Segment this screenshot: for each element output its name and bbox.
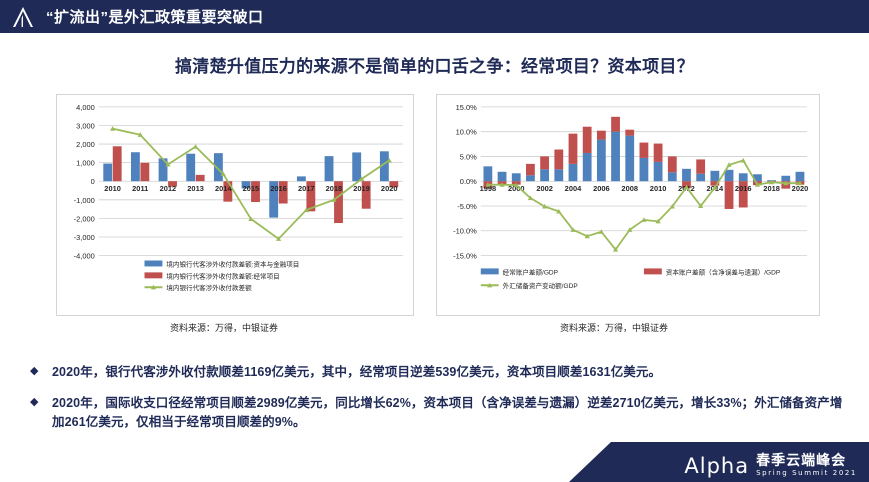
svg-text:2011: 2011 bbox=[132, 184, 148, 193]
left-chart-svg: 4,0003,0002,0001,0000-1,000-2,000-3,000-… bbox=[57, 95, 413, 315]
svg-text:2020: 2020 bbox=[792, 184, 809, 193]
brand-cn-text: 春季云端峰会 bbox=[756, 452, 846, 468]
svg-text:-10.0%: -10.0% bbox=[453, 227, 477, 236]
svg-text:-4,000: -4,000 bbox=[74, 252, 95, 261]
svg-text:2010: 2010 bbox=[104, 184, 121, 193]
svg-text:3,000: 3,000 bbox=[76, 121, 95, 130]
svg-text:2006: 2006 bbox=[593, 184, 610, 193]
left-chart-source: 资料来源：万得，中银证券 bbox=[170, 321, 278, 334]
right-chart-panel: 15.0%10.0%5.0%0.0%-5.0%-10.0%-15.0%19982… bbox=[436, 94, 820, 316]
page-title: 搞清楚升值压力的来源不是简单的口舌之争：经常项目？资本项目？ bbox=[0, 52, 869, 77]
svg-text:0: 0 bbox=[91, 177, 95, 186]
svg-text:2020: 2020 bbox=[381, 184, 398, 193]
svg-text:-5.0%: -5.0% bbox=[457, 202, 477, 211]
bullet-text: 2020年，国际收支口径经常项目顺差2989亿美元，同比增长62%，资本项目（含… bbox=[52, 394, 850, 432]
svg-text:境内银行代客涉外收付款差额:资本与金融项目: 境内银行代客涉外收付款差额:资本与金融项目 bbox=[166, 259, 299, 268]
svg-text:0.0%: 0.0% bbox=[460, 177, 477, 186]
svg-text:经常账户差额/GDP: 经常账户差额/GDP bbox=[503, 267, 559, 276]
svg-text:2002: 2002 bbox=[536, 184, 553, 193]
right-chart-svg: 15.0%10.0%5.0%0.0%-5.0%-10.0%-15.0%19982… bbox=[437, 95, 819, 315]
slide-header: “扩流出”是外汇政策重要突破口 bbox=[0, 0, 869, 33]
svg-text:外汇储备资产变动额/GDP: 外汇储备资产变动额/GDP bbox=[503, 281, 579, 290]
svg-text:境内银行代客涉外收付款差额:经常项目: 境内银行代客涉外收付款差额:经常项目 bbox=[166, 271, 279, 280]
svg-text:2010: 2010 bbox=[650, 184, 667, 193]
svg-text:-1,000: -1,000 bbox=[74, 196, 95, 205]
svg-text:-2,000: -2,000 bbox=[74, 214, 95, 223]
svg-text:2016: 2016 bbox=[735, 184, 752, 193]
svg-text:-3,000: -3,000 bbox=[74, 233, 95, 242]
bullet-list: ◆ 2020年，银行代客涉外收付款顺差1169亿美元，其中，经常项目逆差539亿… bbox=[30, 363, 850, 444]
header-title: “扩流出”是外汇政策重要突破口 bbox=[46, 6, 264, 27]
list-item: ◆ 2020年，国际收支口径经常项目顺差2989亿美元，同比增长62%，资本项目… bbox=[30, 394, 850, 432]
svg-text:1,000: 1,000 bbox=[76, 159, 95, 168]
svg-text:-15.0%: -15.0% bbox=[453, 252, 477, 261]
bullet-marker: ◆ bbox=[30, 363, 52, 380]
left-chart-panel: 4,0003,0002,0001,0000-1,000-2,000-3,000-… bbox=[56, 94, 414, 316]
footer-brand: Alpha 春季云端峰会 Spring Summit 2021 bbox=[684, 452, 857, 478]
svg-text:2004: 2004 bbox=[565, 184, 582, 193]
svg-text:2018: 2018 bbox=[763, 184, 780, 193]
brand-sub-text: Spring Summit 2021 bbox=[756, 468, 857, 478]
svg-text:境内银行代客涉外收付款差额: 境内银行代客涉外收付款差额 bbox=[166, 283, 252, 292]
alpha-triangle-logo-icon bbox=[0, 0, 46, 33]
brand-alpha-text: Alpha bbox=[684, 454, 749, 478]
svg-text:2008: 2008 bbox=[621, 184, 638, 193]
svg-text:2012: 2012 bbox=[160, 184, 177, 193]
svg-text:2013: 2013 bbox=[187, 184, 204, 193]
svg-text:2018: 2018 bbox=[326, 184, 343, 193]
svg-text:2,000: 2,000 bbox=[76, 140, 95, 149]
list-item: ◆ 2020年，银行代客涉外收付款顺差1169亿美元，其中，经常项目逆差539亿… bbox=[30, 363, 850, 382]
svg-text:15.0%: 15.0% bbox=[456, 103, 478, 112]
svg-text:资本账户差额（含净误差与遗漏）/GDP: 资本账户差额（含净误差与遗漏）/GDP bbox=[666, 267, 781, 276]
svg-text:2017: 2017 bbox=[298, 184, 315, 193]
svg-text:2016: 2016 bbox=[270, 184, 287, 193]
slide-footer: Alpha 春季云端峰会 Spring Summit 2021 bbox=[0, 442, 869, 482]
bullet-marker: ◆ bbox=[30, 394, 52, 411]
svg-text:2015: 2015 bbox=[243, 184, 260, 193]
svg-text:2019: 2019 bbox=[353, 184, 370, 193]
right-chart-source: 资料来源：万得，中银证券 bbox=[560, 321, 668, 334]
bullet-text: 2020年，银行代客涉外收付款顺差1169亿美元，其中，经常项目逆差539亿美元… bbox=[52, 363, 661, 382]
svg-text:10.0%: 10.0% bbox=[456, 128, 478, 137]
svg-text:4,000: 4,000 bbox=[76, 103, 95, 112]
svg-text:5.0%: 5.0% bbox=[460, 152, 477, 161]
